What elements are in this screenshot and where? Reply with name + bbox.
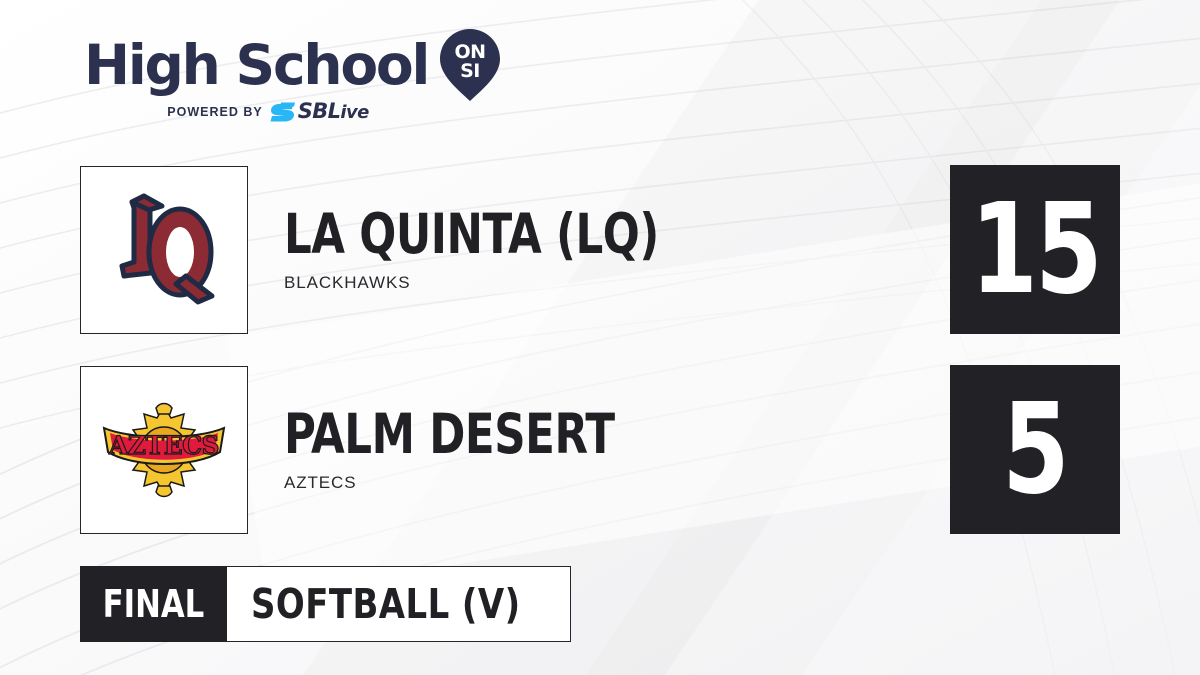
team-row: AZTECS PALM DESERT AZTECS 5 <box>80 366 1120 534</box>
sblive-s-mark-icon <box>270 102 296 123</box>
team-name: LA QUINTA (LQ) <box>284 207 659 262</box>
team-info: PALM DESERT AZTECS <box>284 366 660 534</box>
aztecs-wordmark: AZTECS <box>108 431 219 460</box>
game-status-text: FINAL <box>103 585 205 623</box>
team-mascot: BLACKHAWKS <box>284 273 710 293</box>
team-score: 15 <box>970 187 1099 312</box>
palm-desert-aztecs-logo-icon: AZTECS <box>94 380 234 520</box>
sblive-logo: SBLive <box>270 101 369 123</box>
team-row: LA QUINTA (LQ) BLACKHAWKS 15 <box>80 166 1120 334</box>
team-score-box: 5 <box>950 365 1120 534</box>
pin-bottom-text: SI <box>460 60 480 82</box>
team-logo-tile <box>80 166 248 334</box>
powered-by-label: POWERED BY <box>167 105 262 119</box>
sport-label-box: SOFTBALL (V) <box>227 566 571 642</box>
team-info: LA QUINTA (LQ) BLACKHAWKS <box>284 166 710 334</box>
brand-title-row: High School ON SI <box>84 34 514 96</box>
background-band <box>506 0 1200 675</box>
scoreboard-graphic: High School ON SI POWERED BY SBLive <box>0 0 1200 675</box>
brand-header: High School ON SI POWERED BY SBLive <box>84 34 514 134</box>
game-status-badge: FINAL <box>80 566 227 642</box>
la-quinta-lq-monogram-logo-icon <box>94 180 234 320</box>
sport-label: SOFTBALL (V) <box>251 584 521 625</box>
team-logo-tile: AZTECS <box>80 366 248 534</box>
team-score-box: 15 <box>950 165 1120 334</box>
map-pin-icon: ON SI <box>437 27 503 103</box>
status-bar: FINAL SOFTBALL (V) <box>80 566 571 642</box>
team-name: PALM DESERT <box>284 407 615 462</box>
brand-title: High School <box>84 36 428 94</box>
team-mascot: AZTECS <box>284 473 660 493</box>
team-score: 5 <box>1003 387 1068 512</box>
powered-by-row: POWERED BY SBLive <box>78 101 458 123</box>
sblive-wordmark: SBLive <box>298 101 369 123</box>
on-si-pin-icon: ON SI <box>437 27 503 103</box>
